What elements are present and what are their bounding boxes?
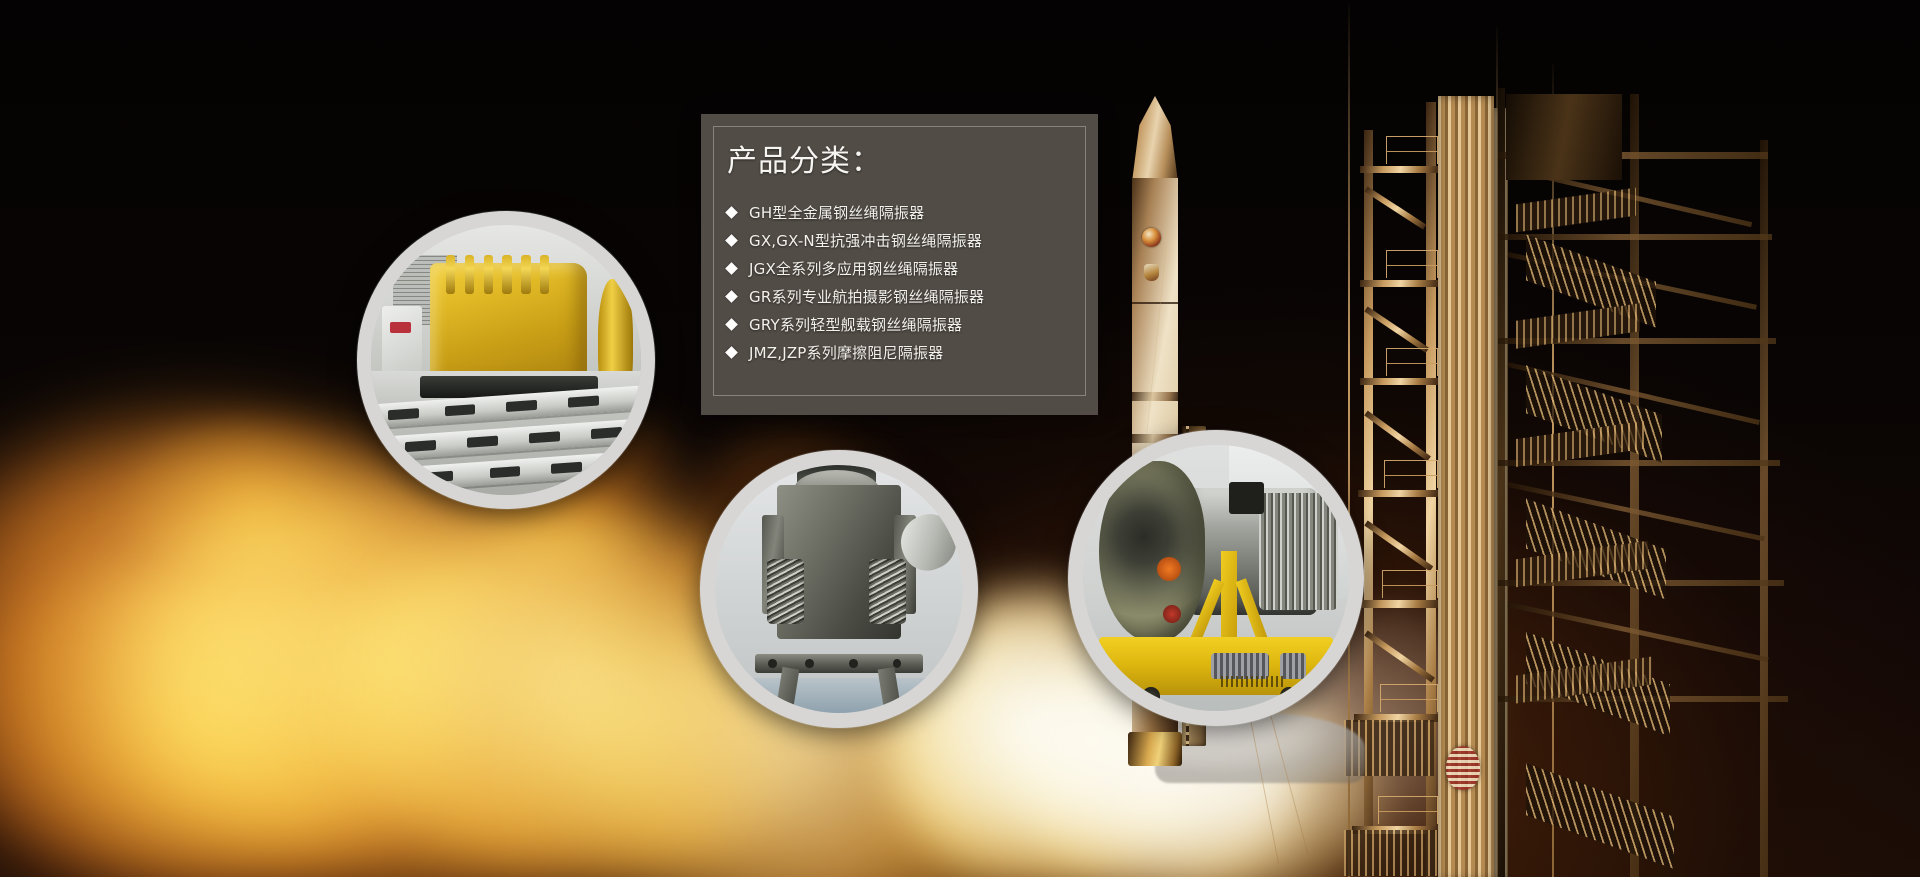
list-item[interactable]: GH型全金属钢丝绳隔振器 bbox=[727, 198, 1078, 226]
list-item[interactable]: GX,GX-N型抗强冲击钢丝绳隔振器 bbox=[727, 226, 1078, 254]
list-item-label: GX,GX-N型抗强冲击钢丝绳隔振器 bbox=[749, 230, 982, 251]
list-item-label: GRY系列轻型舰载钢丝绳隔振器 bbox=[749, 314, 962, 335]
diamond-bullet-icon bbox=[725, 234, 738, 247]
photo-wire-rope-isolator-mount[interactable] bbox=[700, 450, 978, 728]
product-category-list: GH型全金属钢丝绳隔振器 GX,GX-N型抗强冲击钢丝绳隔振器 JGX全系列多应… bbox=[727, 198, 1078, 366]
mission-patch-icon bbox=[1144, 264, 1159, 281]
diamond-bullet-icon bbox=[725, 290, 738, 303]
diamond-bullet-icon bbox=[725, 206, 738, 219]
diamond-bullet-icon bbox=[725, 346, 738, 359]
list-item[interactable]: JMZ,JZP系列摩擦阻尼隔振器 bbox=[727, 338, 1078, 366]
diamond-bullet-icon bbox=[725, 262, 738, 275]
launch-tower bbox=[1330, 0, 1920, 877]
photo-diesel-generator-set[interactable] bbox=[357, 211, 655, 509]
list-item[interactable]: GR系列专业航拍摄影钢丝绳隔振器 bbox=[727, 282, 1078, 310]
list-item[interactable]: JGX全系列多应用钢丝绳隔振器 bbox=[727, 254, 1078, 282]
list-item-label: JGX全系列多应用钢丝绳隔振器 bbox=[749, 258, 958, 279]
panel-title: 产品分类： bbox=[727, 136, 882, 180]
tower-emblem-icon bbox=[1446, 746, 1480, 790]
diamond-bullet-icon bbox=[725, 318, 738, 331]
list-item-label: GR系列专业航拍摄影钢丝绳隔振器 bbox=[749, 286, 984, 307]
list-item-label: GH型全金属钢丝绳隔振器 bbox=[749, 202, 924, 223]
banner-stage: Delta bbox=[0, 0, 1920, 877]
nasa-insignia-icon bbox=[1142, 228, 1161, 247]
list-item-label: JMZ,JZP系列摩擦阻尼隔振器 bbox=[749, 342, 943, 363]
list-item[interactable]: GRY系列轻型舰载钢丝绳隔振器 bbox=[727, 310, 1078, 338]
photo-jet-engine-transport-cradle[interactable] bbox=[1068, 430, 1364, 726]
rocket-nose-cone bbox=[1132, 96, 1178, 182]
product-category-panel: 产品分类： GH型全金属钢丝绳隔振器 GX,GX-N型抗强冲击钢丝绳隔振器 JG… bbox=[701, 114, 1098, 415]
rocket-engine-skirt bbox=[1128, 732, 1182, 766]
